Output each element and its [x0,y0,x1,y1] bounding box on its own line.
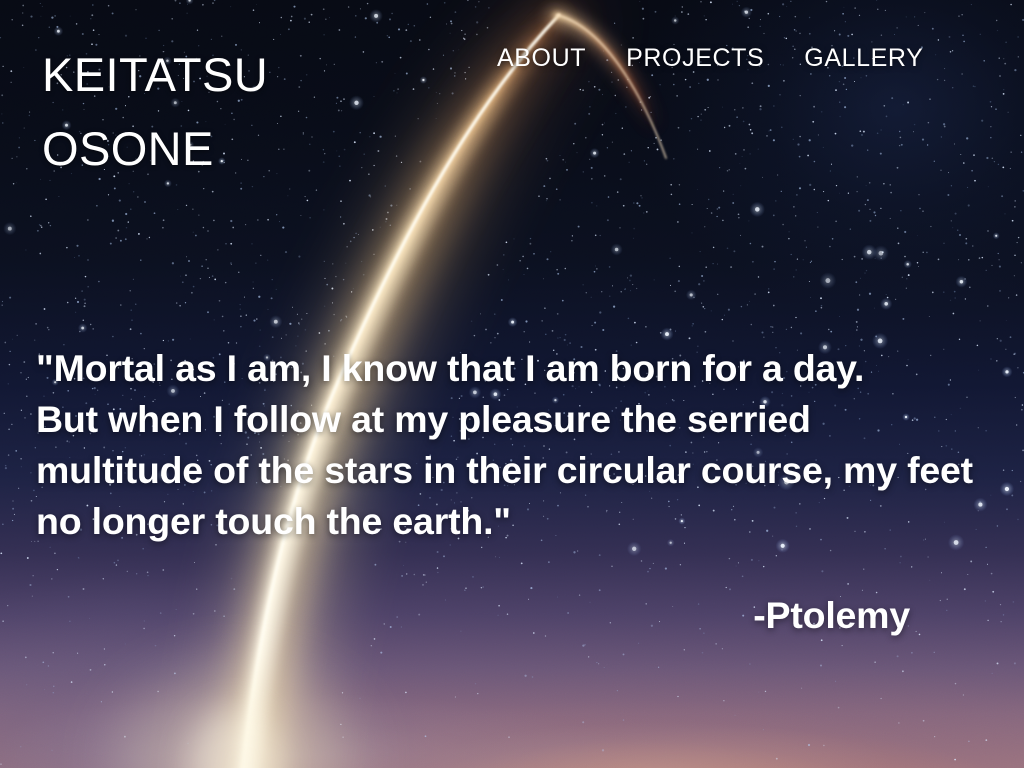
presentation-slide: KEITATSU OSONE ABOUT PROJECTS GALLERY "M… [0,0,1024,768]
main-navigation: ABOUT PROJECTS GALLERY [497,44,923,73]
nav-item-about[interactable]: ABOUT [497,44,586,73]
quote-text: "Mortal as I am, I know that I am born f… [36,343,1004,547]
cloud-band-right [430,648,890,768]
quote-attribution: -Ptolemy [36,592,910,638]
quote-block: "Mortal as I am, I know that I am born f… [36,343,1004,547]
site-title: KEITATSU OSONE [42,38,268,186]
nav-item-gallery[interactable]: GALLERY [804,44,923,73]
nav-item-projects[interactable]: PROJECTS [626,44,764,73]
